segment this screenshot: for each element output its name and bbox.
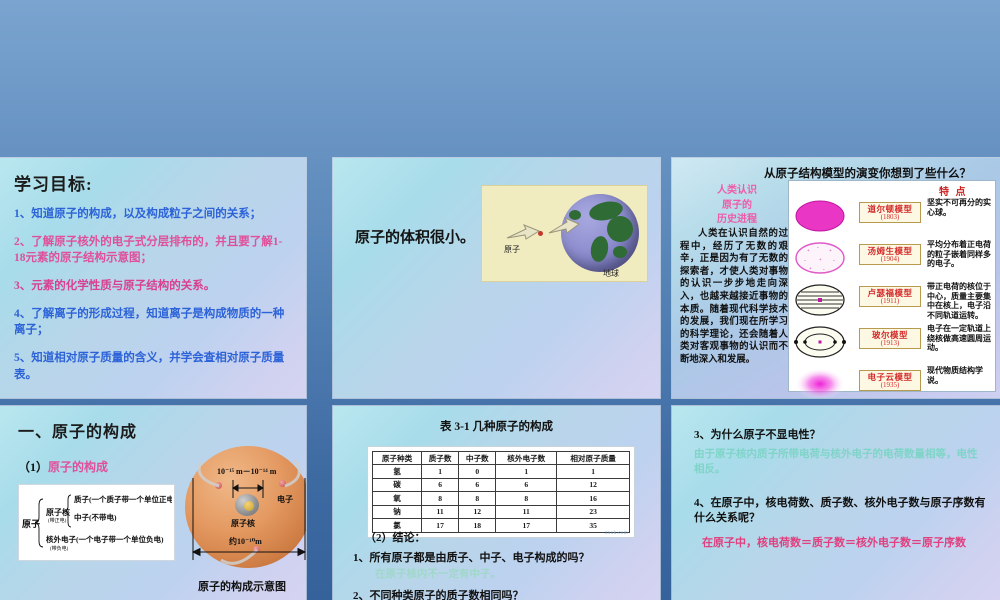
model-desc-rutherford: 带正电荷的核位于中心，质量主要集中在核上，电子沿不同轨道运转。 xyxy=(927,282,991,320)
column-header: 核外电子数 xyxy=(496,452,557,465)
cell-electrons: 1 xyxy=(496,465,557,478)
slide-atom-volume[interactable]: 原子的体积很小。 原子 地球 xyxy=(333,158,660,398)
svg-text:(带正电): (带正电) xyxy=(48,517,67,524)
cell-element: 碳 xyxy=(373,478,422,491)
slide-model-evolution[interactable]: 从原子结构模型的演变你想到了些什么？ 人类认识 原子的 历史进程 人类在认识自然… xyxy=(672,158,1000,398)
model-desc-bohr: 电子在一定轨道上绕核做高速圆周运动。 xyxy=(927,324,991,353)
table-row: 氢 1 0 1 1 xyxy=(373,465,630,478)
cell-element: 钠 xyxy=(373,505,422,518)
cell-mass: 12 xyxy=(557,478,630,491)
composition-bracket-diagram: 原子 原子核 (带正电) 质子(一个质子带一个单位正电) 中子(不带电) 核外电… xyxy=(18,484,175,561)
cell-mass: 23 xyxy=(557,505,630,518)
atom-composition-table: 原子种类 质子数 中子数 核外电子数 相对原子质量 氢 1 0 1 1 碳 xyxy=(367,446,635,538)
nuclear-lines-icon xyxy=(793,282,847,318)
model-desc-electron-cloud: 现代物质结构学说。 xyxy=(927,366,991,385)
cell-protons: 6 xyxy=(422,478,459,491)
solid-sphere-icon xyxy=(793,198,847,234)
objective-item-1: 1、知道原子的构成，以及构成粒子之间的关系； xyxy=(14,206,292,223)
atom-size-label: 约10⁻¹⁰m xyxy=(229,536,262,547)
slide-questions[interactable]: 3、为什么原子不显电性？ 由于原子核内质子所带电荷与核外电子的电荷数量相等，电性… xyxy=(672,406,1000,600)
cell-neutrons: 18 xyxy=(459,519,496,532)
slide-deck: 学习目标: 1、知道原子的构成，以及构成粒子之间的关系； 2、了解原子核外的电子… xyxy=(0,0,1000,600)
cell-neutrons: 6 xyxy=(459,478,496,491)
atom-structure-image: 10⁻¹⁵ m－10⁻¹⁴ m 原子核 电子 约10⁻¹⁰m xyxy=(177,442,306,572)
electron-cloud-icon xyxy=(793,366,847,398)
cell-mass: 16 xyxy=(557,492,630,505)
objective-item-4: 4、了解离子的形成过程，知道离子是构成物质的一种离子； xyxy=(14,306,292,339)
arrow-right-icon-1 xyxy=(506,224,540,242)
model-row-bohr: 玻尔模型 (1913) 电子在一定轨道上绕核做高速圆周运动。 xyxy=(789,321,995,363)
history-subtitle: 人类认识 原子的 历史进程 xyxy=(692,184,782,228)
question-3: 3、为什么原子不显电性？ xyxy=(694,428,821,443)
model-name-bohr: 玻尔模型 (1913) xyxy=(859,328,921,349)
cell-protons: 11 xyxy=(422,505,459,518)
cell-protons: 1 xyxy=(422,465,459,478)
cell-protons: 17 xyxy=(422,519,459,532)
objective-item-5: 5、知道相对原子质量的含义，并学会查相对原子质量表。 xyxy=(14,350,292,383)
cell-neutrons: 8 xyxy=(459,492,496,505)
plum-pudding-icon: +-+ -+- +- xyxy=(793,240,847,276)
history-paragraph: 人类在认识自然的过程中，经历了无数的艰辛，正是因为有了无数的探索者，才使人类对事… xyxy=(680,228,788,367)
svg-text:(带负电): (带负电) xyxy=(50,545,69,552)
page-title: 学习目标: xyxy=(0,158,306,195)
cell-element: 氧 xyxy=(373,492,422,505)
label-atom: 原子 xyxy=(504,244,520,255)
model-desc-dalton: 坚实不可再分的实心球。 xyxy=(927,198,991,217)
conclusion-label: （2）结论： xyxy=(365,529,426,545)
svg-text:+: + xyxy=(807,249,810,254)
nucleus-size-label: 10⁻¹⁵ m－10⁻¹⁴ m xyxy=(217,466,276,477)
model-name-dalton: 道尔顿模型 (1803) xyxy=(859,202,921,223)
question-4: 4、在原子中，核电荷数、质子数、核外电子数与原子序数有什么关系呢？ xyxy=(694,496,990,527)
table-row: 氧 8 8 8 16 xyxy=(373,492,630,505)
label-earth: 地球 xyxy=(603,268,619,279)
slide-learning-objectives[interactable]: 学习目标: 1、知道原子的构成，以及构成粒子之间的关系； 2、了解原子核外的电子… xyxy=(0,158,306,398)
column-header: 原子种类 xyxy=(373,452,422,465)
svg-text:+: + xyxy=(829,249,832,254)
svg-text:核外电子(一个电子带一个单位负电): 核外电子(一个电子带一个单位负电) xyxy=(46,534,164,544)
electron-label: 电子 xyxy=(277,494,293,505)
cell-electrons: 17 xyxy=(496,519,557,532)
nucleus-label: 原子核 xyxy=(231,518,255,529)
objective-item-2: 2、了解原子核外的电子式分层排布的，并且要了解1-18元素的原子结构示意图； xyxy=(14,234,292,267)
column-header: 相对原子质量 xyxy=(557,452,630,465)
atom-vs-earth-image: 原子 地球 xyxy=(481,185,648,282)
svg-text:+: + xyxy=(819,258,822,263)
cell-neutrons: 0 xyxy=(459,465,496,478)
model-row-rutherford: 卢瑟福模型 (1911) 带正电荷的核位于中心，质量主要集中在核上，电子沿不同轨… xyxy=(789,279,995,321)
cell-protons: 8 xyxy=(422,492,459,505)
model-evolution-title: 从原子结构模型的演变你想到了些什么？ xyxy=(764,165,971,181)
objective-item-3: 3、元素的化学性质与原子结构的关系。 xyxy=(14,278,292,295)
watermark: zxxk.com xyxy=(605,531,628,536)
model-name-electron-cloud: 电子云模型 (1935) xyxy=(859,370,921,391)
svg-text:中子(不带电): 中子(不带电) xyxy=(74,512,117,522)
model-desc-thomson: 平均分布着正电荷的粒子嵌着同样多的电子。 xyxy=(927,240,991,269)
svg-text:质子(一个质子带一个单位正电): 质子(一个质子带一个单位正电) xyxy=(74,494,172,504)
model-row-electron-cloud: 电子云模型 (1935) 现代物质结构学说。 xyxy=(789,363,995,398)
table-title: 表 3-1 几种原子的构成 xyxy=(333,418,660,434)
svg-text:原子核: 原子核 xyxy=(46,507,70,517)
atom-volume-title: 原子的体积很小。 xyxy=(355,226,475,247)
model-name-thomson: 汤姆生模型 (1904) xyxy=(859,244,921,265)
slide-atom-table[interactable]: 表 3-1 几种原子的构成 原子种类 质子数 中子数 核外电子数 相对原子质量 … xyxy=(333,406,660,600)
table-row: 碳 6 6 6 12 xyxy=(373,478,630,491)
atom-diagram-caption: 原子的构成示意图 xyxy=(198,578,286,594)
column-header: 中子数 xyxy=(459,452,496,465)
question-2: 2、不同种类原子的质子数相同吗？ xyxy=(353,587,524,600)
cell-electrons: 11 xyxy=(496,505,557,518)
cell-element: 氢 xyxy=(373,465,422,478)
cell-electrons: 6 xyxy=(496,478,557,491)
svg-text:+: + xyxy=(809,267,812,272)
table-header-row: 原子种类 质子数 中子数 核外电子数 相对原子质量 xyxy=(373,452,630,465)
cell-electrons: 8 xyxy=(496,492,557,505)
question-1: 1、所有原子都是由质子、中子、电子构成的吗？ xyxy=(353,549,590,565)
cell-neutrons: 12 xyxy=(459,505,496,518)
table-row: 钠 11 12 11 23 xyxy=(373,505,630,518)
answer-1: 在原子核内不一定有中子。 xyxy=(375,566,501,581)
answer-3: 由于原子核内质子所带电荷与核外电子的电荷数量相等，电性相反。 xyxy=(694,448,984,478)
answer-4: 在原子中，核电荷数＝质子数＝核外电子数＝原子序数 xyxy=(702,534,966,550)
slide-atom-composition[interactable]: 一、原子的构成 （1）原子的构成 原子 原子核 (带正电) 质子(一个质子带一个… xyxy=(0,406,306,600)
model-name-rutherford: 卢瑟福模型 (1911) xyxy=(859,286,921,307)
model-row-thomson: +-+ -+- +- 汤姆生模型 (1904) 平均分布着正电荷的粒子嵌着同样多… xyxy=(789,237,995,279)
bohr-orbits-icon xyxy=(793,324,847,360)
model-evolution-table: 特 点 道尔顿模型 (1803) 坚实不可再分的实心球。 +-+ -+- +- xyxy=(788,180,996,392)
column-header: 质子数 xyxy=(422,452,459,465)
model-row-dalton: 道尔顿模型 (1803) 坚实不可再分的实心球。 xyxy=(789,195,995,237)
cell-mass: 1 xyxy=(557,465,630,478)
section-title: 一、原子的构成 xyxy=(0,406,306,442)
arrow-right-icon-2 xyxy=(548,216,580,236)
